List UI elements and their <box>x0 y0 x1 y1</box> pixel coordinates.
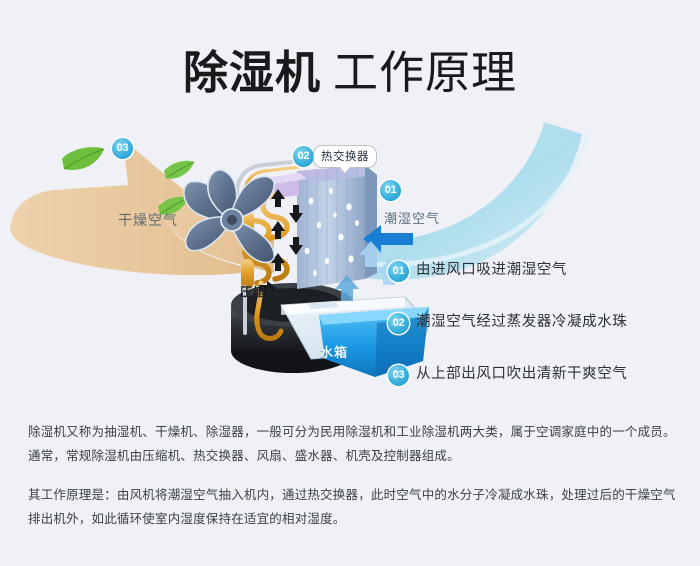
legend-text-03: 从上部出风口吹出清新干爽空气 <box>416 362 627 383</box>
legend-badge-02: 02 <box>388 313 409 334</box>
legend-badge-03: 03 <box>388 365 409 386</box>
badge-humid-air: 01 <box>380 180 401 201</box>
page-title-part-1: 除湿机 <box>183 47 321 98</box>
body-paragraph-1-wrap: 除湿机又称为抽湿机、干燥机、除湿器，一般可分为民用除湿机和工业除湿机两大类，属于… <box>28 420 676 468</box>
body-paragraph-1: 除湿机又称为抽湿机、干燥机、除湿器，一般可分为民用除湿机和工业除湿机两大类，属于… <box>28 420 676 468</box>
label-humid-air: 潮湿空气 <box>384 208 440 227</box>
body-paragraph-2-wrap: 其工作原理是：由风机将潮湿空气抽入机内，通过热交换器，此时空气中的水分子冷凝成水… <box>28 483 676 531</box>
page-title-part-2: 工作原理 <box>333 47 517 98</box>
body-paragraph-2: 其工作原理是：由风机将潮湿空气抽入机内，通过热交换器，此时空气中的水分子冷凝成水… <box>28 483 676 531</box>
page-title: 除湿机工作原理 <box>0 36 700 101</box>
legend-item-02: 02 潮湿空气经过蒸发器冷凝成水珠 <box>388 310 688 344</box>
label-dry-air: 干燥空气 <box>118 210 178 230</box>
leaf-icon-1 <box>62 147 104 170</box>
infographic-page: 除湿机工作原理 <box>0 0 700 566</box>
legend-list: 01 由进风口吸进潮湿空气 02 潮湿空气经过蒸发器冷凝成水珠 03 从上部出风… <box>388 258 688 414</box>
legend-text-02: 潮湿空气经过蒸发器冷凝成水珠 <box>416 310 627 331</box>
label-water-tank: 水箱 <box>320 342 348 361</box>
legend-text-01: 由进风口吸进潮湿空气 <box>416 258 567 279</box>
heat-exchanger-callout: 热交换器 <box>313 145 377 168</box>
legend-badge-01: 01 <box>388 261 409 282</box>
badge-heat-exchanger: 02 <box>293 146 314 167</box>
label-compressor: 压缩机 <box>240 283 278 300</box>
badge-dry-air: 03 <box>112 138 133 159</box>
legend-item-03: 03 从上部出风口吹出清新干爽空气 <box>388 362 688 396</box>
legend-item-01: 01 由进风口吸进潮湿空气 <box>388 258 688 292</box>
fan-icon <box>178 168 286 273</box>
